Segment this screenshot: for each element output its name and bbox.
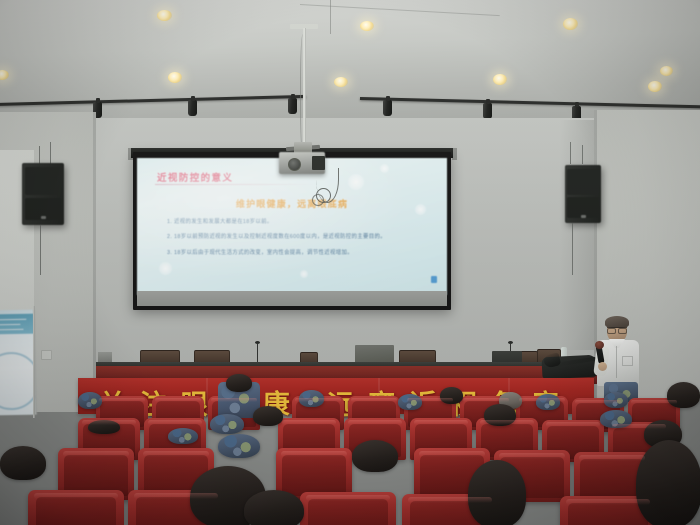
seat-highlight — [546, 422, 601, 427]
speaker-suspension-wire — [582, 145, 583, 164]
seat-highlight — [99, 398, 145, 402]
rollup-banner — [0, 310, 37, 416]
audience-head — [253, 406, 283, 426]
downlight — [493, 74, 507, 85]
seat-highlight — [348, 420, 403, 425]
audience-head — [536, 394, 560, 410]
seat-highlight — [281, 451, 348, 457]
slide-bullet-list: 1. 近视的发生和发展大都是在18岁以前。 2. 18岁以前预防近视的发生以及控… — [167, 218, 435, 264]
right-wall-speaker — [565, 165, 601, 223]
seat-highlight — [579, 455, 646, 461]
seat-highlight — [148, 420, 203, 425]
screen-bokeh — [300, 270, 308, 278]
seat-highlight — [63, 451, 130, 457]
seat-highlight — [306, 495, 390, 501]
seat-highlight — [463, 398, 509, 402]
downlight — [168, 72, 182, 83]
seat-highlight — [143, 451, 210, 457]
screen-bokeh — [348, 174, 364, 190]
downlight — [648, 81, 662, 92]
seat-highlight — [295, 398, 341, 402]
lecturer-shirt-pocket — [622, 356, 633, 366]
downlight — [157, 10, 172, 21]
rollup-banner-pole — [33, 306, 35, 418]
lecturer — [592, 318, 646, 402]
audience-head — [636, 440, 700, 525]
audience-head — [398, 394, 422, 410]
seat-highlight — [480, 420, 535, 425]
lecturer-hand — [598, 362, 607, 371]
slide-bullet-item: 1. 近视的发生和发展大都是在18岁以前。 — [167, 218, 435, 226]
seat-highlight — [414, 420, 469, 425]
audience-head — [352, 440, 398, 472]
auditorium-seat — [300, 492, 396, 525]
audience-head — [468, 460, 526, 525]
seat-highlight — [575, 400, 621, 404]
seat-highlight — [519, 398, 565, 402]
speaker-badge — [41, 216, 46, 219]
seat-highlight — [134, 493, 218, 499]
downlight — [660, 66, 673, 76]
left-wall-speaker — [22, 163, 64, 225]
screen-lower-blank-strip — [137, 291, 447, 306]
seat-highlight — [407, 398, 453, 402]
rollup-banner-eye-icon — [0, 352, 37, 411]
auditorium-photo: 近视防控的意义 维护眼健康，远离眼底病 1. 近视的发生和发展大都是在18岁以前… — [0, 0, 700, 525]
seat-highlight — [499, 453, 566, 459]
projector-cable-loop — [312, 194, 324, 206]
audience-head — [218, 434, 260, 458]
slide-title-underline — [155, 184, 315, 185]
wall-shading — [560, 120, 598, 350]
speaker-suspension-wire — [40, 225, 41, 275]
speaker-grille-upper — [567, 169, 599, 195]
downlight — [0, 70, 9, 80]
slide-title: 近视防控的意义 — [157, 170, 233, 184]
seat-highlight — [631, 400, 677, 404]
seat-highlight — [155, 398, 201, 402]
seat-highlight — [612, 424, 667, 429]
track-spotlight — [188, 100, 197, 116]
audience-head — [244, 490, 304, 525]
projector-lens-icon — [288, 158, 301, 171]
audience-head — [226, 374, 252, 392]
track-spotlight — [288, 98, 297, 114]
seat-highlight — [282, 420, 337, 425]
slide-bullet-item: 3. 18岁以后由于现代生活方式的改变，室内性会提高，调节性近视增加。 — [167, 249, 435, 257]
lecturer-shirt-placket — [616, 346, 617, 378]
track-spotlight — [383, 100, 392, 116]
lecturer-glasses-icon — [607, 327, 627, 332]
seat-highlight — [566, 499, 650, 505]
microphone-head-icon — [595, 341, 604, 349]
seat-highlight — [82, 420, 137, 425]
seat-highlight — [408, 497, 492, 503]
projector-cable-run — [300, 34, 307, 154]
audience-head — [0, 446, 46, 480]
seat-highlight — [34, 493, 118, 499]
seat-highlight — [211, 398, 257, 402]
downlight — [334, 77, 348, 87]
wall-outlet — [41, 350, 52, 360]
slide-subtitle: 维护眼健康，远离眼底病 — [137, 197, 447, 210]
audience-head — [210, 414, 244, 434]
track-spotlight — [483, 103, 492, 119]
projection-screen: 近视防控的意义 维护眼健康，远离眼底病 1. 近视的发生和发展大都是在18岁以前… — [137, 158, 447, 295]
seat-highlight — [351, 398, 397, 402]
speaker-suspension-wire — [572, 223, 573, 275]
auditorium-seat — [28, 490, 124, 525]
downlight — [360, 21, 374, 31]
speaker-grille-upper — [25, 167, 62, 194]
slide-bullet-item: 2. 18岁以前预防近视的发生以及控制近视度数在600度以内，是近视防控的主要目… — [167, 233, 435, 241]
slide-corner-logo-icon — [431, 276, 437, 283]
downlight — [563, 18, 578, 30]
seat-highlight — [419, 451, 486, 457]
screen-bokeh — [380, 164, 389, 173]
audience-head — [667, 382, 700, 408]
speaker-badge — [581, 215, 585, 218]
speaker-suspension-wire — [570, 142, 571, 164]
ceiling-seam — [330, 0, 331, 34]
audience-head — [168, 428, 198, 444]
